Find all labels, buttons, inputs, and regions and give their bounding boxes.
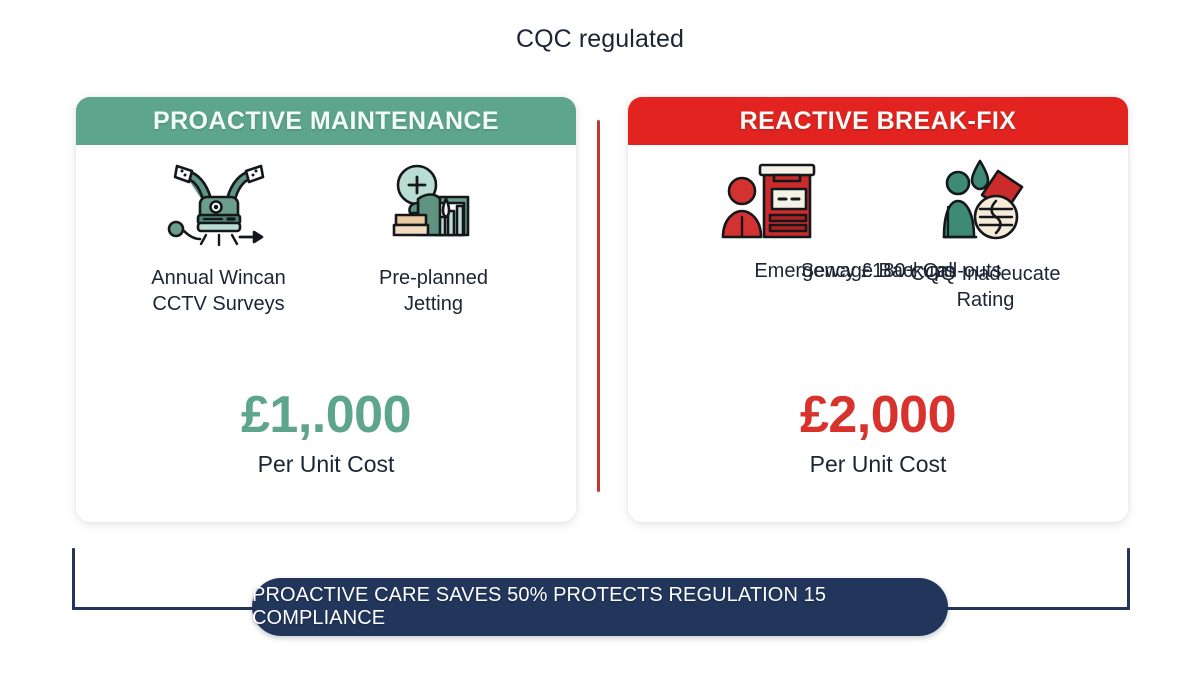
feature-label: Sewage Backups (628, 258, 1128, 284)
summary-banner: PROACTIVE CARE SAVES 50% PROTECTS REGULA… (252, 578, 948, 636)
feature-cqc-inadequate-rating: CQQ Inadeucate Rating (878, 155, 1093, 314)
bracket-arm-left (72, 548, 75, 610)
jetting-schedule-chart-icon (384, 159, 484, 251)
reactive-break-fix-card: REACTIVE BREAK-FIX (628, 97, 1128, 522)
price-caption: Per Unit Cost (628, 451, 1128, 478)
price-value: £2,000 (628, 389, 1128, 441)
card-body-reactive: Emergency £180+ Call-outs Sewage Backups (628, 145, 1128, 522)
feature-pre-planned-jetting: Pre-planned Jetting (326, 159, 541, 318)
card-body-proactive: Annual Wincan CCTV Surveys (76, 145, 576, 522)
proactive-maintenance-card: PROACTIVE MAINTENANCE (76, 97, 576, 522)
cqc-inadequate-rating-icon (934, 155, 1038, 247)
feature-label: Pre-planned Jetting (379, 265, 488, 318)
price-caption: Per Unit Cost (76, 451, 576, 478)
price-value: £1,.000 (76, 389, 576, 441)
card-header-reactive: REACTIVE BREAK-FIX (628, 97, 1128, 145)
card-header-proactive: PROACTIVE MAINTENANCE (76, 97, 576, 145)
price-block-proactive: £1,.000 Per Unit Cost (76, 389, 576, 478)
feature-annual-wincan-cctv-surveys: Annual Wincan CCTV Surveys (111, 159, 326, 318)
feature-sewage-backups: Emergency £180+ Call-outs Sewage Backups (663, 155, 878, 314)
emergency-callout-person-machine-icon (718, 155, 824, 247)
page-title: CQC regulated (0, 25, 1200, 54)
bracket-arm-right (1127, 548, 1130, 610)
feature-list-proactive: Annual Wincan CCTV Surveys (76, 145, 576, 318)
cctv-crawler-robot-icon (164, 159, 274, 251)
card-divider-line (597, 120, 600, 492)
feature-label: Annual Wincan CCTV Surveys (151, 265, 286, 318)
price-block-reactive: £2,000 Per Unit Cost (628, 389, 1128, 478)
feature-list-reactive: Emergency £180+ Call-outs Sewage Backups (628, 145, 1128, 314)
